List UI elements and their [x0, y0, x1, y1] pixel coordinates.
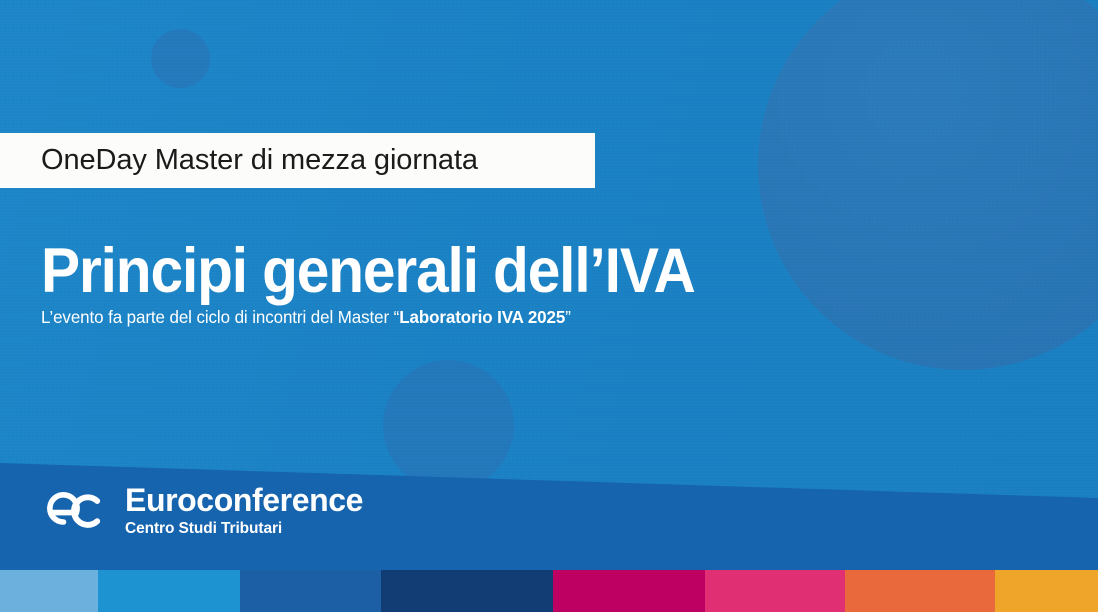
subtitle-suffix: ”	[565, 307, 571, 327]
swatch-light-blue	[0, 570, 98, 612]
page-title: Principi generali dell’IVA	[41, 238, 695, 305]
swatch-amber	[995, 570, 1098, 612]
subtitle-emphasis: Laboratorio IVA 2025	[399, 307, 565, 327]
logo-tagline: Centro Studi Tributari	[125, 521, 363, 537]
swatch-pink	[705, 570, 845, 612]
ec-monogram-icon	[39, 485, 113, 535]
swatch-sky-blue	[98, 570, 240, 612]
euroconference-logo: Euroconference Centro Studi Tributari	[39, 484, 363, 537]
kicker-label: OneDay Master di mezza giornata	[0, 146, 478, 175]
small-circle-decoration	[151, 29, 210, 88]
event-promo-banner: OneDay Master di mezza giornata Principi…	[0, 0, 1098, 612]
subtitle: L’evento fa parte del ciclo di incontri …	[41, 307, 571, 327]
logo-wordmark: Euroconference Centro Studi Tributari	[125, 484, 363, 537]
brand-color-strip	[0, 570, 1098, 612]
swatch-mid-blue	[240, 570, 381, 612]
logo-brand-name: Euroconference	[125, 484, 363, 516]
medium-circle-decoration	[383, 360, 514, 491]
swatch-magenta	[553, 570, 705, 612]
swatch-orange	[845, 570, 995, 612]
swatch-navy	[381, 570, 553, 612]
kicker-badge: OneDay Master di mezza giornata	[0, 133, 595, 188]
subtitle-prefix: L’evento fa parte del ciclo di incontri …	[41, 307, 399, 327]
